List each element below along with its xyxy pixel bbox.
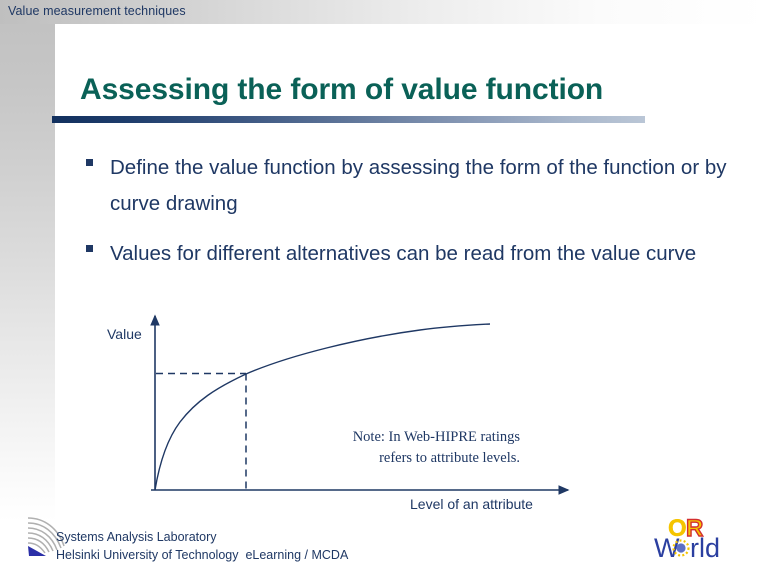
- list-item: Values for different alternatives can be…: [86, 236, 736, 272]
- chart-note-line-2: refers to attribute levels.: [290, 448, 520, 469]
- page-title: Assessing the form of value function: [80, 73, 603, 107]
- footer-line-2-wrap: Helsinki University of Technology eLearn…: [56, 547, 348, 565]
- chart-note: Note: In Web-HIPRE ratings refers to att…: [290, 427, 520, 468]
- square-bullet-icon: [86, 245, 93, 252]
- x-axis-label: Level of an attribute: [410, 496, 533, 512]
- bullet-text: Values for different alternatives can be…: [110, 236, 736, 272]
- header-title: Value measurement techniques: [8, 4, 186, 18]
- footer-line-3: eLearning / MCDA: [245, 548, 348, 562]
- bullet-list: Define the value function by assessing t…: [86, 150, 736, 285]
- title-divider-rule: [52, 116, 645, 123]
- slide-canvas: Value measurement techniques Assessing t…: [0, 0, 768, 576]
- square-bullet-icon: [86, 159, 93, 166]
- footer-line-1: Systems Analysis Laboratory: [56, 529, 348, 547]
- svg-text:W: W: [654, 533, 680, 563]
- or-world-logo-icon: O R W rld: [652, 512, 764, 564]
- y-axis-label: Value: [107, 326, 142, 342]
- value-function-chart: Value Level of an attribute Note: In Web…: [0, 300, 768, 520]
- footer-text: Systems Analysis Laboratory Helsinki Uni…: [56, 529, 348, 565]
- footer-line-2: Helsinki University of Technology: [56, 548, 239, 562]
- bullet-text: Define the value function by assessing t…: [110, 150, 736, 223]
- list-item: Define the value function by assessing t…: [86, 150, 736, 223]
- svg-text:rld: rld: [690, 533, 720, 563]
- chart-note-line-1: Note: In Web-HIPRE ratings: [290, 427, 520, 448]
